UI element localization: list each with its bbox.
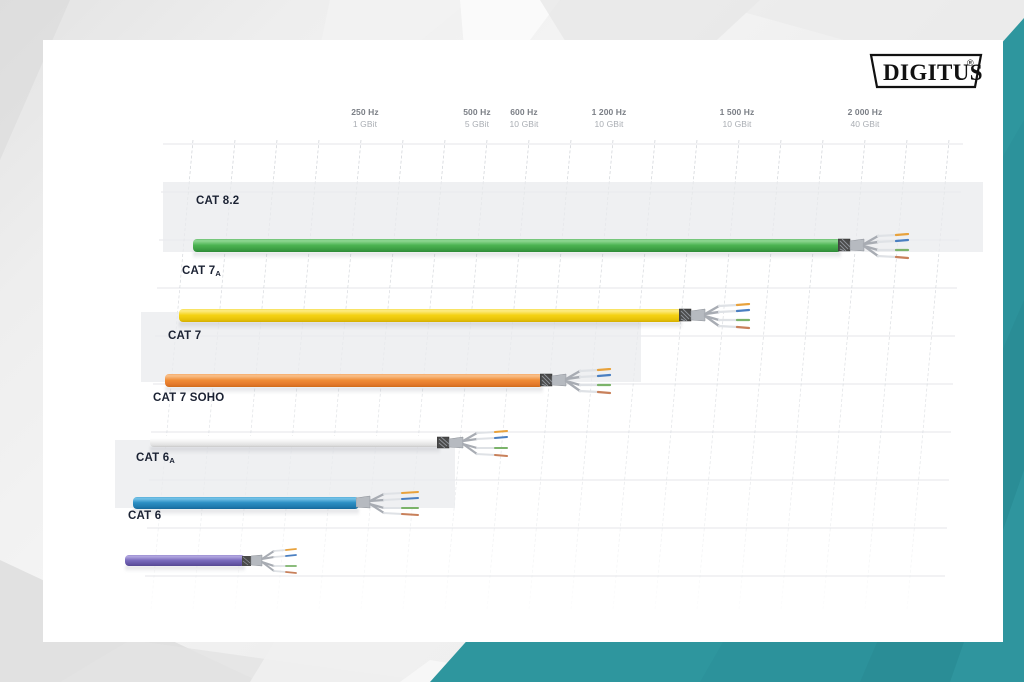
- scale-tick-hz: 600 Hz: [489, 106, 559, 118]
- frequency-scale: 250 Hz 1 GBit 500 Hz 5 GBit 600 Hz 10 GB…: [43, 106, 1003, 142]
- scale-tick-gbit: 10 GBit: [489, 118, 559, 130]
- cable-label-cat6a: CAT 6A: [136, 452, 175, 464]
- cable-body-cat7-soho[interactable]: [150, 436, 440, 447]
- cable-label-sub: A: [215, 269, 221, 278]
- cable-label-cat82: CAT 8.2: [196, 195, 239, 207]
- digitus-logo: DIGITUS ®: [867, 52, 985, 90]
- cable-connector-cat7: [540, 368, 612, 396]
- cable-label-cat7-soho: CAT 7 SOHO: [153, 392, 224, 404]
- cable-connector-cat7a: [679, 303, 751, 331]
- scale-tick-gbit: 1 GBit: [330, 118, 400, 130]
- cable-connector-cat6a: [356, 491, 420, 517]
- scale-tick-hz: 2 000 Hz: [830, 106, 900, 118]
- cable-label-main: CAT 7: [168, 330, 201, 342]
- scale-tick-hz: 1 500 Hz: [702, 106, 772, 118]
- scale-tick-gbit: 10 GBit: [574, 118, 644, 130]
- cable-label-cat7: CAT 7: [168, 330, 201, 342]
- scale-tick-gbit: 40 GBit: [830, 118, 900, 130]
- cable-label-cat6: CAT 6: [128, 510, 161, 522]
- cable-shadow: [133, 509, 359, 516]
- cable-label-main: CAT 6: [136, 452, 169, 464]
- cable-label-main: CAT 8.2: [196, 195, 239, 207]
- scale-tick-2000hz: 2 000 Hz 40 GBit: [830, 106, 900, 130]
- scale-tick-1500hz: 1 500 Hz 10 GBit: [702, 106, 772, 130]
- cable-label-main: CAT 7: [182, 265, 215, 277]
- cable-connector-cat6: [242, 548, 298, 574]
- cable-chart-plot: CAT 8.2: [43, 140, 1003, 620]
- content-card: DIGITUS ® 250 Hz 1 GBit 500 Hz 5 GBit 60…: [43, 40, 1003, 642]
- cable-label-cat7a: CAT 7A: [182, 265, 221, 277]
- cable-label-main: CAT 7 SOHO: [153, 392, 224, 404]
- registered-trademark-icon: ®: [967, 58, 974, 68]
- cable-shadow: [179, 322, 682, 329]
- cable-label-sub: A: [169, 456, 175, 465]
- cable-body-cat7[interactable]: [165, 374, 543, 387]
- scale-tick-250hz: 250 Hz 1 GBit: [330, 106, 400, 130]
- scale-tick-gbit: 10 GBit: [702, 118, 772, 130]
- cable-body-cat6[interactable]: [125, 555, 245, 566]
- cable-shadow: [125, 566, 245, 572]
- cable-body-cat82[interactable]: [193, 239, 841, 252]
- cable-connector-cat7-soho: [437, 430, 509, 458]
- cable-body-cat7a[interactable]: [179, 309, 682, 322]
- cable-shadow: [193, 252, 841, 259]
- scale-tick-1200hz: 1 200 Hz 10 GBit: [574, 106, 644, 130]
- scale-tick-hz: 1 200 Hz: [574, 106, 644, 118]
- cable-body-cat6a[interactable]: [133, 497, 359, 509]
- cable-shadow: [150, 447, 440, 454]
- scale-tick-hz: 250 Hz: [330, 106, 400, 118]
- cable-connector-cat82: [838, 233, 910, 261]
- cable-label-main: CAT 6: [128, 510, 161, 522]
- scale-tick-600hz: 600 Hz 10 GBit: [489, 106, 559, 130]
